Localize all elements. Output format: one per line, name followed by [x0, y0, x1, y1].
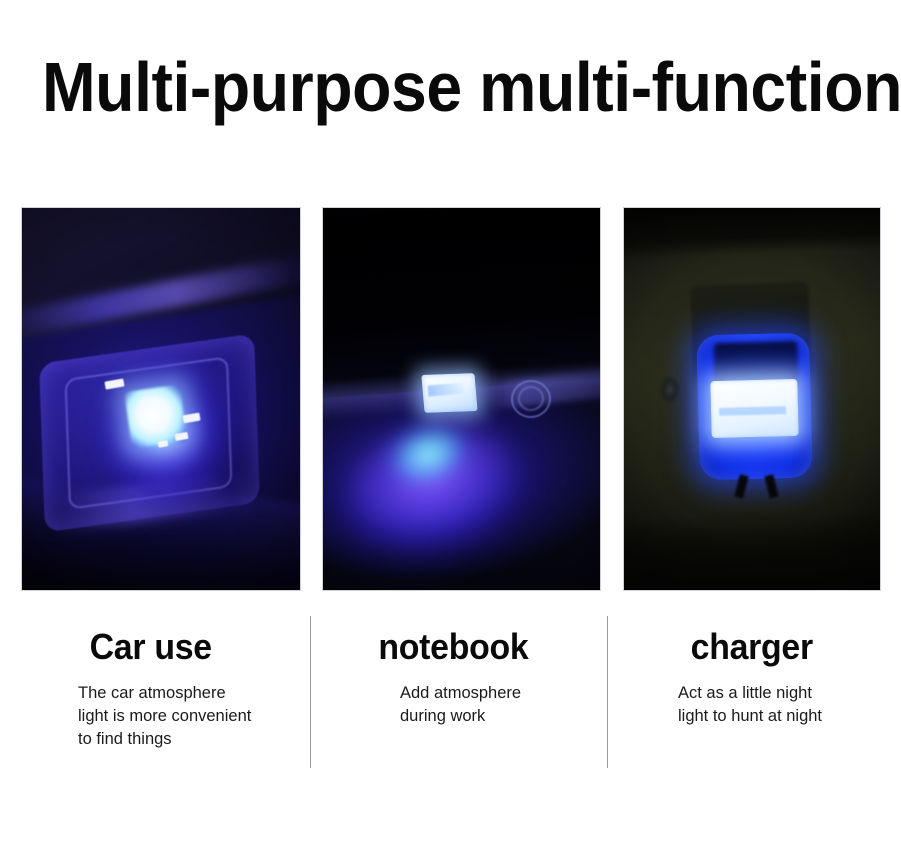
photo-vignette: [22, 208, 300, 590]
caption-heading: charger: [623, 626, 866, 668]
product-photo-notebook: [322, 207, 601, 591]
page-title: Multi-purpose multi-function: [42, 52, 806, 122]
photo-row: [0, 207, 901, 591]
column-divider: [310, 616, 311, 768]
caption-heading: notebook: [322, 626, 584, 668]
laptop-desk-scene: [323, 208, 600, 590]
product-photo-charger: [623, 207, 881, 591]
caption-description: Add atmosphere during work: [322, 682, 601, 728]
car-console-scene: [22, 208, 300, 590]
wall-charger-scene: [624, 208, 880, 590]
column-divider: [607, 616, 608, 768]
product-photo-car-use: [21, 207, 301, 591]
caption-description: The car atmosphere light is more conveni…: [21, 682, 301, 751]
photo-vignette: [323, 208, 600, 590]
caption-column-charger: charger Act as a little night light to h…: [623, 612, 881, 728]
caption-column-car-use: Car use The car atmosphere light is more…: [21, 612, 301, 751]
caption-heading: Car use: [21, 626, 284, 668]
caption-row: Car use The car atmosphere light is more…: [0, 612, 901, 787]
caption-description: Act as a little night light to hunt at n…: [623, 682, 881, 728]
caption-column-notebook: notebook Add atmosphere during work: [322, 612, 601, 728]
photo-vignette: [624, 208, 880, 590]
